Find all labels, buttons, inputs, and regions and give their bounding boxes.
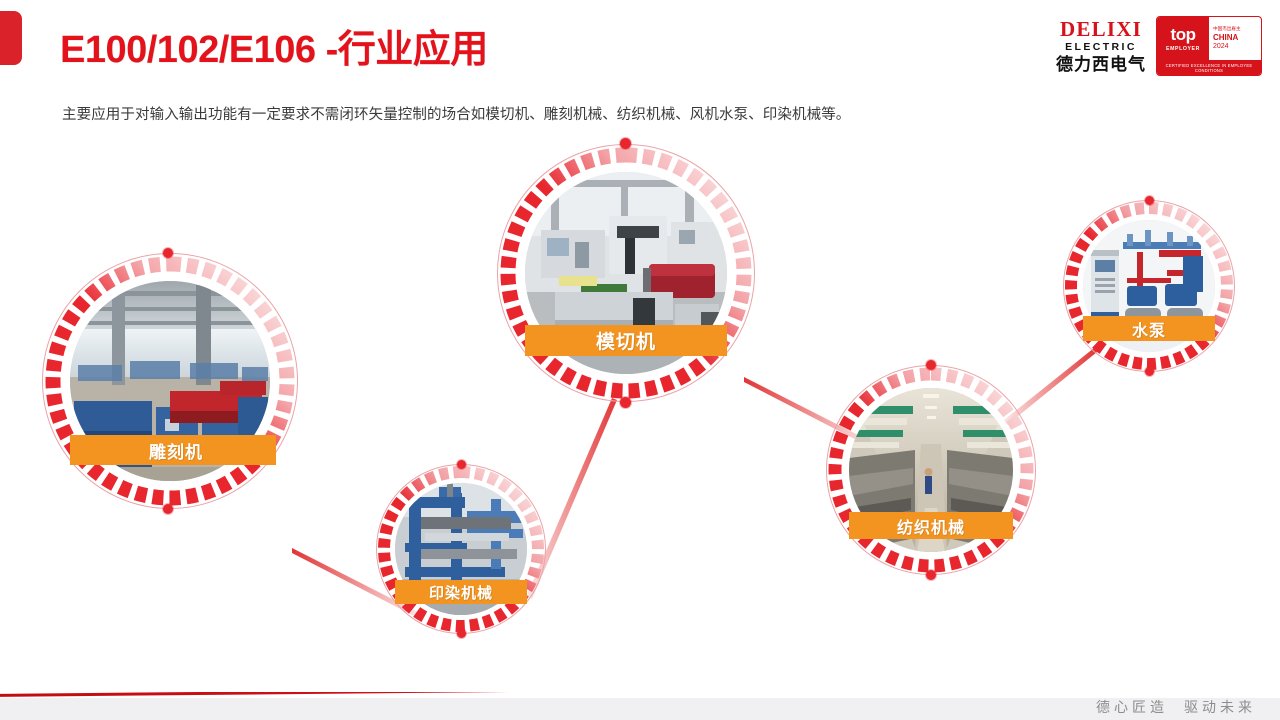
node-printing-dyeing-dot-top [457, 460, 466, 469]
industry-application-diagram: 雕刻机 [0, 120, 1280, 680]
node-printing-dyeing-label: 印染机械 [395, 580, 527, 604]
footer-tagline: 德心匠造驱动未来 [1080, 697, 1256, 717]
node-textile[interactable]: 纺织机械 [826, 365, 1036, 575]
node-water-pump-dot-top [1145, 196, 1154, 205]
footer-tagline-right: 驱动未来 [1184, 699, 1256, 715]
top-employer-badge-body: top EMPLOYER 中国杰出雇主 CHINA 2024 [1157, 17, 1261, 60]
node-water-pump[interactable]: 水泵 [1063, 200, 1235, 372]
footer-tagline-left: 德心匠造 [1096, 699, 1168, 715]
node-engraving-dot-bottom [163, 504, 173, 514]
logo-area: DELIXI ELECTRIC 德力西电气 top EMPLOYER 中国杰出雇… [1056, 16, 1262, 76]
node-textile-dot-top [926, 360, 936, 370]
node-die-cutting-dot-top [620, 138, 631, 149]
top-employer-badge: top EMPLOYER 中国杰出雇主 CHINA 2024 CERTIFIED… [1156, 16, 1262, 76]
top-employer-employer-text: EMPLOYER [1166, 46, 1200, 52]
top-employer-mark: top EMPLOYER [1157, 17, 1209, 60]
delixi-logo: DELIXI ELECTRIC 德力西电气 [1056, 19, 1146, 73]
delixi-chinese-text: 德力西电气 [1056, 56, 1146, 73]
node-water-pump-dot-bottom [1145, 367, 1154, 376]
node-textile-label: 纺织机械 [849, 512, 1013, 539]
delixi-electric-text: ELECTRIC [1065, 42, 1137, 53]
top-employer-country: CHINA [1213, 33, 1261, 43]
top-employer-cn-text: 中国杰出雇主 [1213, 26, 1261, 33]
page-title-separator: - [316, 29, 338, 71]
page-title: E100/102/E106 -行业应用 [60, 18, 488, 73]
node-textile-dot-bottom [926, 570, 936, 580]
delixi-brand-text: DELIXI [1060, 19, 1142, 40]
top-employer-top-text: top [1171, 26, 1196, 43]
node-engraving-label: 雕刻机 [70, 435, 276, 465]
node-printing-dyeing[interactable]: 印染机械 [376, 464, 546, 634]
top-employer-year: 2024 [1213, 42, 1261, 51]
node-die-cutting[interactable]: 模切机 [497, 144, 755, 402]
top-employer-details: 中国杰出雇主 CHINA 2024 [1209, 17, 1261, 60]
page-title-chinese: 行业应用 [338, 29, 488, 71]
page-title-model: E100/102/E106 [60, 29, 316, 71]
node-die-cutting-dot-bottom [620, 397, 631, 408]
node-engraving-dot-top [163, 248, 173, 258]
top-employer-footer-text: CERTIFIED EXCELLENCE IN EMPLOYEE CONDITI… [1157, 60, 1261, 75]
node-engraving[interactable]: 雕刻机 [42, 253, 298, 509]
node-water-pump-label: 水泵 [1083, 316, 1215, 341]
title-accent-bar [0, 11, 22, 65]
node-printing-dyeing-dot-bottom [457, 629, 466, 638]
node-die-cutting-label: 模切机 [525, 325, 727, 356]
slide-root: E100/102/E106 -行业应用 主要应用于对输入输出功能有一定要求不需闭… [0, 0, 1280, 720]
